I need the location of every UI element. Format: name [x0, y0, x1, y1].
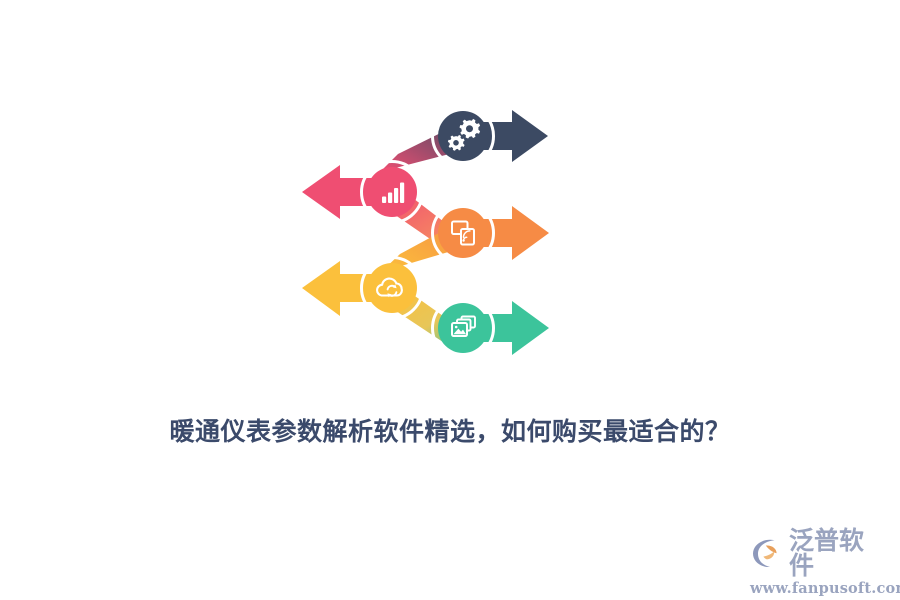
node-gallery[interactable] [433, 298, 494, 359]
brand-name: 泛普软件 [789, 528, 886, 578]
node-gears-disc [438, 111, 488, 161]
page-canvas: 暖通仪表参数解析软件精选，如何购买最适合的？ 泛普软件 www.fanpusof… [0, 0, 900, 600]
page-title: 暖通仪表参数解析软件精选，如何购买最适合的？ [0, 412, 900, 448]
node-cloud-sync[interactable] [362, 258, 423, 319]
node-cloud-sync-disc [367, 263, 417, 313]
node-gears[interactable] [433, 106, 494, 167]
node-bar-chart[interactable] [362, 162, 423, 223]
brand-url: www.fanpusoft.com [750, 580, 886, 597]
node-screen-cast[interactable] [433, 203, 494, 264]
infographic-diagram [0, 0, 900, 400]
node-bar-chart-disc [367, 167, 417, 217]
fanpu-logo-icon [750, 536, 784, 570]
brand-watermark: 泛普软件 www.fanpusoft.com [750, 528, 886, 586]
